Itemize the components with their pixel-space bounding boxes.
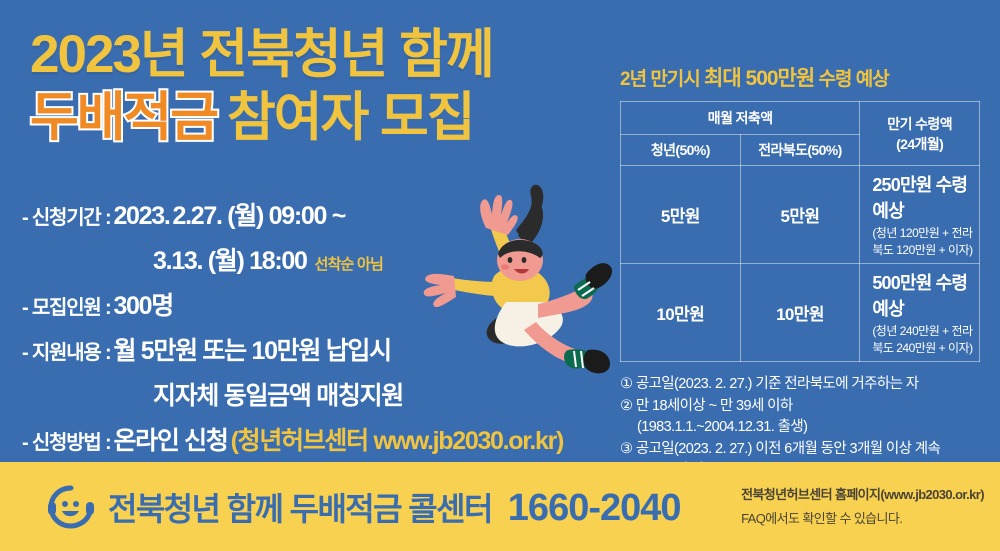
detail-label-method: - 신청방법 : [22, 426, 110, 455]
table-header-payout-line2: (24개월) [896, 136, 943, 152]
detail-label-period: - 신청기간 : [22, 201, 110, 230]
title-line-2-rest: 참여자 모집 [227, 88, 474, 147]
poster-title: 2023년 전북청년 함께 두배적금참여자 모집 [30, 28, 620, 144]
table-header-payout-line1: 만기 수령액 [887, 116, 952, 132]
call-center-banner: 전북청년 함께 두배적금 콜센터1660-2040 전북청년허브센터 홈페이지(… [0, 462, 1000, 551]
condition-item-2: ② 만 18세이상 ~ 만 39세 이하 [620, 396, 980, 417]
title-highlight-word: 두배적금 [30, 91, 217, 144]
detail-value-period-end: 3.13. (월) 18:00 [153, 241, 307, 277]
table-header-monthly-savings: 매월 저축액 [621, 102, 860, 135]
call-center-text-group: 전북청년 함께 두배적금 콜센터1660-2040 [108, 484, 681, 530]
title-line-1: 2023년 전북청년 함께 [30, 28, 620, 81]
detail-row-period: - 신청기간 : 2023. 2.27. (월) 09:00 ~ [22, 196, 622, 232]
cell-payout-1: 250만원 수령 예상 (청년 120만원 + 전라북도 120만원 + 이자) [860, 166, 980, 264]
cell-payout-sub-1: (청년 120만원 + 전라북도 120만원 + 이자) [872, 224, 977, 258]
cell-youth-amount-2: 10만원 [621, 264, 741, 362]
cell-payout-main-1: 250만원 수령 예상 [872, 171, 977, 223]
detail-row-support-second: 지자체 동일금액 매칭지원 [150, 376, 622, 412]
condition-item-2-sub: (1983.1.1.~2004.12.31. 출생) [620, 417, 980, 438]
banner-footnote-line2: FAQ에서도 확인할 수 있습니다. [741, 511, 902, 526]
call-center-label: 전북청년 함께 두배적금 콜센터 [108, 491, 492, 527]
table-header-row-top: 매월 저축액 만기 수령액 (24개월) [621, 102, 980, 135]
maturity-heading-amount: 최대 500만원 [704, 67, 814, 90]
banner-footnote-line1[interactable]: 전북청년허브센터 홈페이지(www.jb2030.or.kr) [741, 487, 984, 502]
cell-province-amount-1: 5만원 [740, 166, 860, 264]
condition-item-1: ① 공고일(2023. 2. 27.) 기준 전라북도에 거주하는 자 [620, 374, 980, 395]
detail-row-method: - 신청방법 : 온라인 신청 (청년허브센터 www.jb2030.or.kr… [22, 421, 622, 457]
savings-rate-table: 매월 저축액 만기 수령액 (24개월) 청년(50%) 전라북도(50%) 5… [620, 101, 980, 362]
condition-item-3: ③ 공고일(2023. 2. 27.) 이전 6개월 동안 3개월 이상 계속 [620, 439, 980, 460]
detail-value-support-second: 지자체 동일금액 매칭지원 [153, 376, 403, 412]
call-center-phone[interactable]: 1660-2040 [508, 487, 681, 529]
banner-footnote: 전북청년허브센터 홈페이지(www.jb2030.or.kr) FAQ에서도 확… [741, 483, 984, 531]
maturity-heading: 2년 만기시 최대 500만원 수령 예상 [620, 62, 980, 92]
poster-root: 2023년 전북청년 함께 두배적금참여자 모집 [0, 0, 1000, 551]
maturity-heading-pre: 2년 만기시 [620, 69, 704, 90]
maturity-heading-post: 수령 예상 [814, 69, 888, 90]
cell-payout-2: 500만원 수령 예상 (청년 240만원 + 전라북도 240만원 + 이자) [860, 264, 980, 362]
headset-smiley-icon [46, 482, 96, 532]
detail-row-period-second: 3.13. (월) 18:00 선착순 아님 [150, 241, 622, 277]
detail-value-quota: 300명 [113, 286, 173, 322]
table-header-province: 전라북도(50%) [740, 135, 860, 166]
detail-row-support: - 지원내용 : 월 5만원 또는 10만원 납입시 [22, 331, 622, 367]
detail-value-period-bold: 2.27. (월) 09:00 ~ [173, 196, 346, 232]
table-row: 10만원 10만원 500만원 수령 예상 (청년 240만원 + 전라북도 2… [621, 264, 980, 362]
detail-value-support: 월 5만원 또는 10만원 납입시 [113, 331, 390, 367]
detail-value-method: 온라인 신청 [113, 421, 227, 457]
title-line-2: 두배적금참여자 모집 [30, 91, 620, 144]
detail-value-method-url[interactable]: (청년허브센터 www.jb2030.or.kr) [231, 421, 563, 457]
detail-row-quota: - 모집인원 : 300명 [22, 286, 622, 322]
detail-value-period: 2023. [113, 202, 169, 231]
table-header-youth: 청년(50%) [621, 135, 741, 166]
cell-province-amount-2: 10만원 [740, 264, 860, 362]
detail-label-support: - 지원내용 : [22, 336, 110, 365]
cell-youth-amount-1: 5만원 [621, 166, 741, 264]
cell-payout-main-2: 500만원 수령 예상 [872, 269, 977, 321]
table-row: 5만원 5만원 250만원 수령 예상 (청년 120만원 + 전라북도 120… [621, 166, 980, 264]
detail-label-quota: - 모집인원 : [22, 291, 110, 320]
cell-payout-sub-2: (청년 240만원 + 전라북도 240만원 + 이자) [872, 322, 977, 356]
detail-note-not-first-come: 선착순 아님 [315, 253, 383, 274]
table-header-payout: 만기 수령액 (24개월) [860, 102, 980, 166]
